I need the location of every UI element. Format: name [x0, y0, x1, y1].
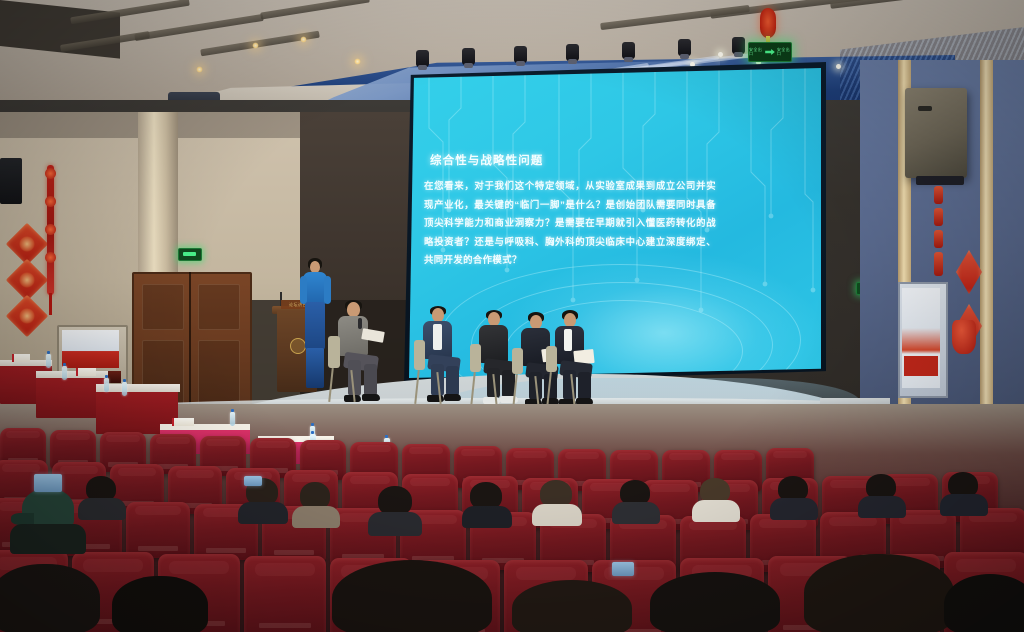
ornament-tail — [49, 293, 52, 315]
phone-screen — [34, 474, 62, 492]
auditorium-scene: 安全出口 安全出口 — [0, 0, 1024, 632]
audience-people-front — [0, 520, 1024, 632]
exit-sign-text-left: 安全出口 — [749, 48, 763, 56]
panelist-1-moderator — [336, 300, 392, 402]
ornament-knot — [45, 196, 56, 207]
speaker-bracket — [916, 176, 964, 185]
exit-sign-text-right: 安全出口 — [777, 48, 791, 56]
slide-title: 综合性与战略性问题 — [430, 152, 818, 168]
wall-speaker-right — [905, 88, 967, 178]
speaker-port — [918, 106, 932, 111]
fire-extinguisher — [952, 320, 976, 354]
exit-sign-top: 安全出口 安全出口 — [748, 42, 792, 62]
panelist-5 — [552, 310, 604, 406]
ornament-knot — [45, 224, 56, 235]
exit-sign-left — [178, 248, 202, 261]
stage-chair — [414, 340, 454, 404]
microphone-icon — [358, 318, 362, 329]
wall-info-board-banner — [904, 356, 938, 376]
ornament-knot — [45, 252, 56, 263]
panelist-2 — [420, 306, 472, 402]
stage-chair — [470, 344, 510, 406]
stage-chair — [328, 336, 368, 402]
slide-content: 综合性与战略性问题 在您看来，对于我们这个特定领域，从实验室成果到成立公司并实现… — [418, 152, 818, 292]
stage-chair — [546, 346, 588, 408]
phone-screen — [244, 476, 262, 486]
wall-speaker-left — [0, 158, 22, 204]
red-lantern — [760, 8, 776, 38]
arrow-right-icon — [765, 49, 775, 55]
ornament-knot — [45, 168, 56, 179]
slide-body-text: 在您看来，对于我们这个特定领域，从实验室成果到成立公司并实现产业化，最关键的“临… — [424, 177, 716, 270]
